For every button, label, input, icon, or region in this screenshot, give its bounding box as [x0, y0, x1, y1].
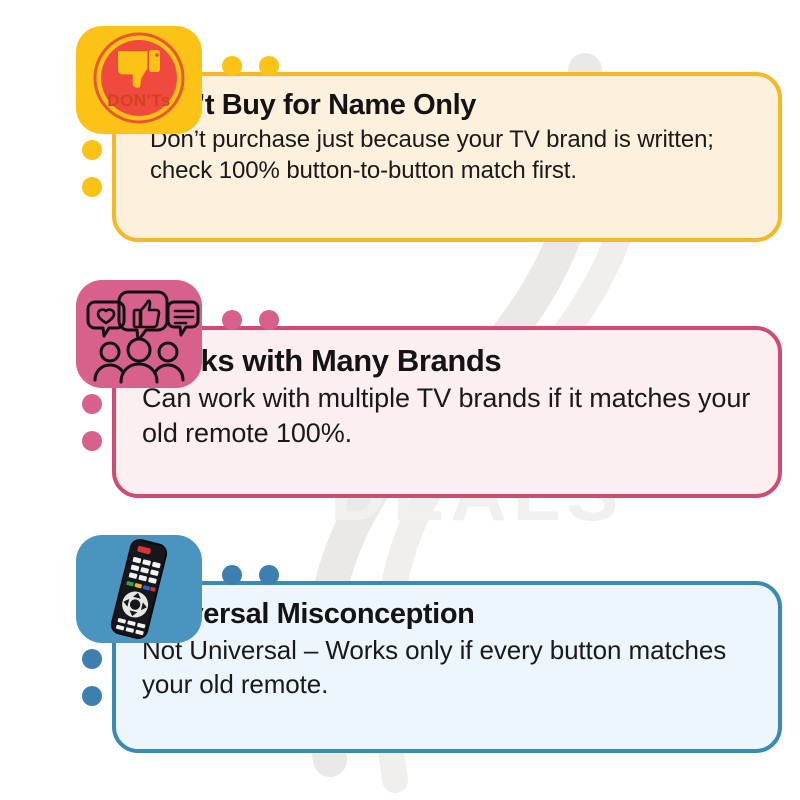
thumbs-down-donts-badge-icon: DON'Ts: [76, 26, 202, 134]
card-works-with-many-brands: Works with Many Brands Can work with mul…: [0, 272, 800, 512]
card-title: Works with Many Brands: [142, 344, 752, 377]
card-body: Don’t Buy for Name Only Don’t purchase j…: [112, 72, 782, 242]
decor-dot: [82, 177, 102, 197]
card-description: Don’t purchase just because your TV bran…: [142, 125, 752, 186]
card-body: Works with Many Brands Can work with mul…: [112, 326, 782, 498]
decor-dot: [222, 565, 242, 585]
badge-remote[interactable]: [76, 535, 202, 643]
decor-dot: [82, 686, 102, 706]
badge-social-feedback[interactable]: [76, 280, 202, 388]
decor-dot: [259, 310, 279, 330]
card-title: Universal Misconception: [142, 599, 752, 630]
card-title: Don’t Buy for Name Only: [142, 90, 752, 121]
decor-dot: [82, 431, 102, 451]
decor-dot: [82, 140, 102, 160]
card-description: Can work with multiple TV brands if it m…: [142, 381, 752, 450]
card-dont-buy-for-name-only: Don’t Buy for Name Only Don’t purchase j…: [0, 18, 800, 258]
decor-dot: [259, 56, 279, 76]
tv-remote-control-icon: [76, 535, 202, 643]
decor-dot: [82, 649, 102, 669]
card-description: Not Universal – Works only if every butt…: [142, 634, 752, 701]
social-feedback-group-icon: [76, 280, 202, 388]
card-body: Universal Misconception Not Universal – …: [112, 581, 782, 753]
decor-dot: [222, 56, 242, 76]
card-universal-misconception: Universal Misconception Not Universal – …: [0, 527, 800, 767]
decor-dot: [82, 394, 102, 414]
infographic-canvas: DEALS Don’t Buy for Name Only Don’t purc…: [0, 0, 800, 800]
decor-dot: [222, 310, 242, 330]
badge-donts[interactable]: DON'Ts: [76, 26, 202, 134]
decor-dot: [259, 565, 279, 585]
badge-label: DON'Ts: [107, 91, 170, 110]
